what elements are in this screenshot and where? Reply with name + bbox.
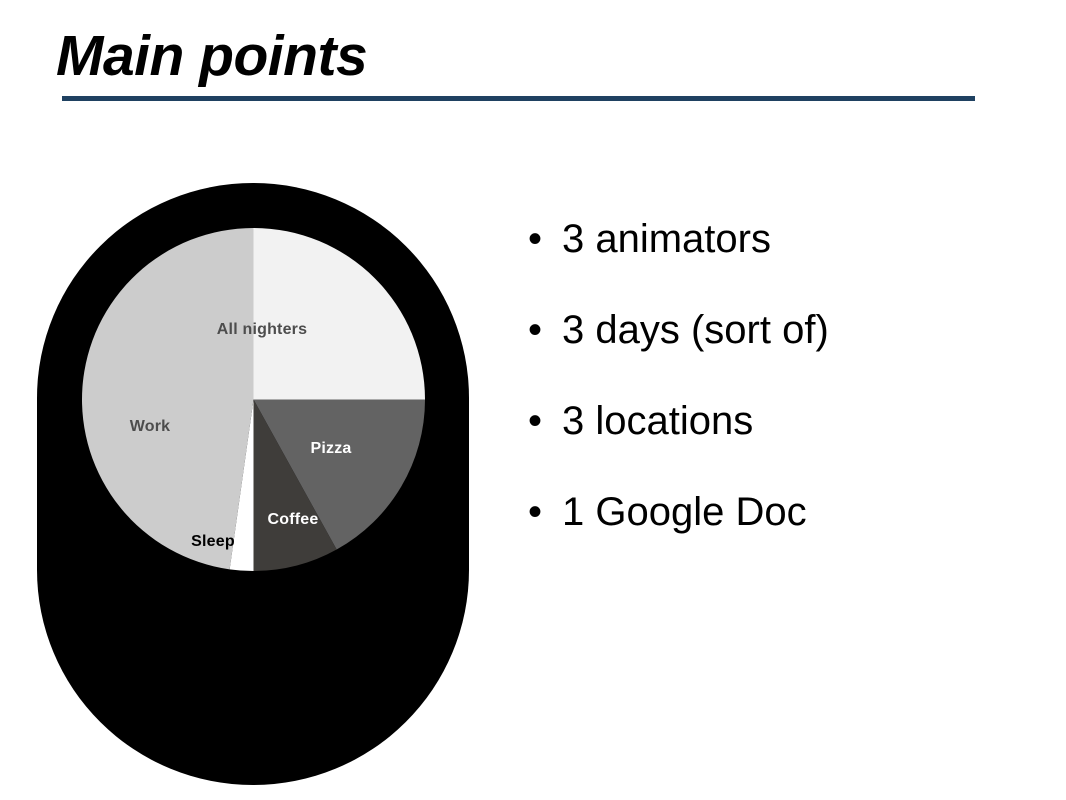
bullet-dot-icon: • xyxy=(528,305,562,355)
pie-slice-work xyxy=(82,228,254,569)
pie-label-pizza: Pizza xyxy=(310,440,351,458)
bullet-dot-icon: • xyxy=(528,487,562,537)
pie-label-sleep: Sleep xyxy=(191,533,235,551)
bullet-dot-icon: • xyxy=(528,396,562,446)
slide-canvas: Main points All nighters Pizza Coffee Sl… xyxy=(0,0,1066,800)
pie-label-all-nighters: All nighters xyxy=(217,321,307,339)
pie-slice-all-nighters xyxy=(254,228,426,400)
pie-chart-graphic: All nighters Pizza Coffee Sleep Work xyxy=(0,0,500,800)
bullet-dot-icon: • xyxy=(528,214,562,264)
pie-label-work: Work xyxy=(130,418,171,436)
list-item: • 3 days (sort of) xyxy=(528,305,1028,355)
pie-chart-svg xyxy=(82,228,425,571)
list-item: • 3 animators xyxy=(528,214,1028,264)
list-item: • 1 Google Doc xyxy=(528,487,1028,537)
pie-chart: All nighters Pizza Coffee Sleep Work xyxy=(82,228,425,571)
pie-label-coffee: Coffee xyxy=(268,511,319,529)
bullet-text: 3 locations xyxy=(562,396,1028,446)
bullet-text: 3 days (sort of) xyxy=(562,305,1028,355)
bullet-text: 3 animators xyxy=(562,214,1028,264)
bullet-list: • 3 animators • 3 days (sort of) • 3 loc… xyxy=(528,214,1028,537)
bullet-text: 1 Google Doc xyxy=(562,487,1028,537)
list-item: • 3 locations xyxy=(528,396,1028,446)
